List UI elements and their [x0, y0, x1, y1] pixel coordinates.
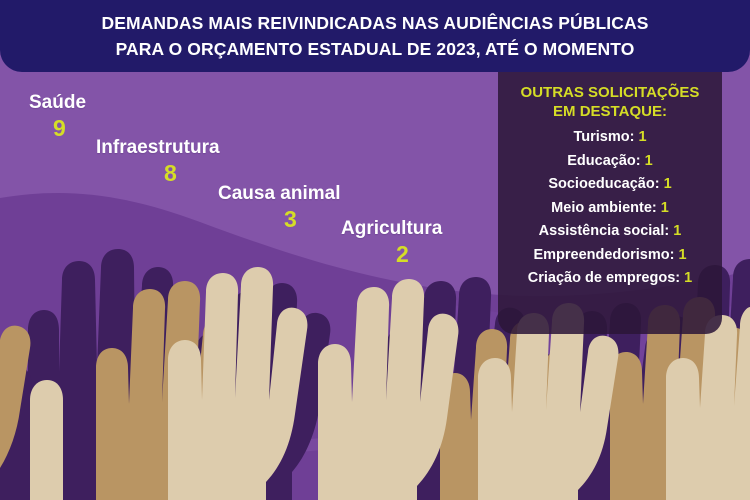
- category-saude: Saúde 9: [29, 92, 86, 142]
- other-request-row: Educação: 1: [506, 150, 714, 174]
- other-request-count: 1: [684, 270, 692, 286]
- category-causa-animal: Causa animal 3: [218, 183, 341, 233]
- panel-heading-line-2: EM DESTAQUE:: [506, 102, 714, 121]
- category-value-infraestrutura: 8: [164, 159, 220, 187]
- other-requests-list: Turismo: 1Educação: 1Socioeducação: 1Mei…: [506, 126, 714, 291]
- page-title-line-2: PARA O ORÇAMENTO ESTADUAL DE 2023, ATÉ O…: [116, 36, 635, 62]
- category-value-agricultura: 2: [396, 240, 442, 268]
- other-request-row: Assistência social: 1: [506, 220, 714, 244]
- other-request-row: Meio ambiente: 1: [506, 197, 714, 221]
- other-request-count: 1: [638, 129, 646, 145]
- infographic-root: DEMANDAS MAIS REIVINDICADAS NAS AUDIÊNCI…: [0, 0, 750, 500]
- other-request-label: Socioeducação:: [548, 176, 659, 192]
- category-label-causa-animal: Causa animal: [218, 183, 341, 205]
- other-request-count: 1: [661, 200, 669, 216]
- other-request-label: Empreendedorismo:: [533, 247, 674, 263]
- other-request-label: Criação de empregos:: [528, 270, 680, 286]
- other-request-row: Empreendedorismo: 1: [506, 244, 714, 268]
- other-request-count: 1: [673, 223, 681, 239]
- category-infraestrutura: Infraestrutura 8: [96, 137, 220, 187]
- other-request-label: Turismo:: [573, 129, 634, 145]
- other-request-label: Educação:: [567, 153, 640, 169]
- header-banner: DEMANDAS MAIS REIVINDICADAS NAS AUDIÊNCI…: [0, 0, 750, 72]
- other-request-row: Turismo: 1: [506, 126, 714, 150]
- category-label-saude: Saúde: [29, 92, 86, 114]
- category-value-saude: 9: [53, 114, 86, 142]
- other-request-label: Assistência social:: [539, 223, 670, 239]
- panel-heading-line-1: OUTRAS SOLICITAÇÕES: [506, 83, 714, 102]
- category-agricultura: Agricultura 2: [341, 218, 442, 268]
- other-request-count: 1: [645, 153, 653, 169]
- category-value-causa-animal: 3: [284, 205, 341, 233]
- category-label-infraestrutura: Infraestrutura: [96, 137, 220, 159]
- other-request-count: 1: [678, 247, 686, 263]
- other-request-row: Criação de empregos: 1: [506, 267, 714, 291]
- page-title-line-1: DEMANDAS MAIS REIVINDICADAS NAS AUDIÊNCI…: [102, 10, 649, 36]
- other-request-row: Socioeducação: 1: [506, 173, 714, 197]
- other-requests-panel: OUTRAS SOLICITAÇÕES EM DESTAQUE: Turismo…: [498, 72, 722, 334]
- other-request-label: Meio ambiente:: [551, 200, 657, 216]
- other-request-count: 1: [664, 176, 672, 192]
- category-label-agricultura: Agricultura: [341, 218, 442, 240]
